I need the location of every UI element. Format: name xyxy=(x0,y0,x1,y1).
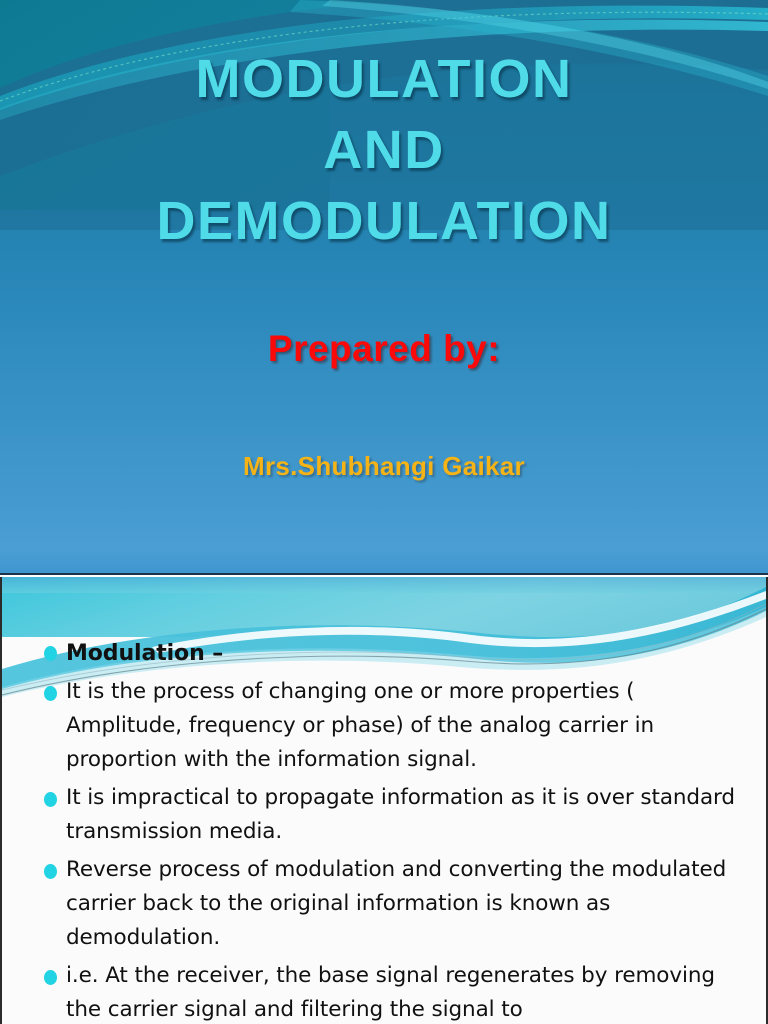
slide-title: MODULATION AND DEMODULATION Prepared by:… xyxy=(0,0,768,575)
title-line-2: AND xyxy=(0,115,768,186)
bullet-dot-icon xyxy=(44,646,57,661)
bullet-dot-icon xyxy=(44,686,57,701)
title-line-3: DEMODULATION xyxy=(0,186,768,257)
bullet-dot-icon xyxy=(44,864,57,879)
author-name: Mrs.Shubhangi Gaikar xyxy=(0,448,768,484)
list-item-text: Modulation – xyxy=(66,637,750,671)
list-item-text: i.e. At the receiver, the base signal re… xyxy=(66,959,750,1024)
list-item: It is impractical to propagate informati… xyxy=(40,781,750,849)
list-item: i.e. At the receiver, the base signal re… xyxy=(40,959,750,1024)
title-block: MODULATION AND DEMODULATION xyxy=(0,44,768,257)
list-item: Reverse process of modulation and conver… xyxy=(40,853,750,955)
list-item: It is the process of changing one or mor… xyxy=(40,675,750,777)
bullet-dot-icon xyxy=(44,970,57,985)
list-item-text: Reverse process of modulation and conver… xyxy=(66,853,750,955)
presentation-page: MODULATION AND DEMODULATION Prepared by:… xyxy=(0,0,768,1024)
title-line-1: MODULATION xyxy=(0,44,768,115)
prepared-by-label: Prepared by: xyxy=(0,325,768,373)
bullet-list: Modulation – It is the process of changi… xyxy=(2,637,766,1024)
list-item: Modulation – xyxy=(40,637,750,671)
bullet-dot-icon xyxy=(44,792,57,807)
list-item-text: It is the process of changing one or mor… xyxy=(66,675,750,777)
list-item-text: It is impractical to propagate informati… xyxy=(66,781,750,849)
slide-content: Modulation – It is the process of changi… xyxy=(0,577,768,1024)
